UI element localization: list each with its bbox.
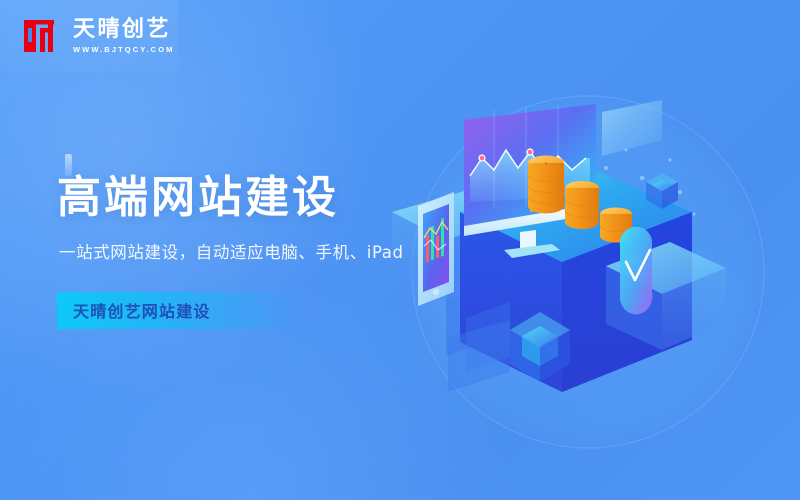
logo-block[interactable]: 天晴创艺 WWW.BJTQCY.COM xyxy=(0,0,178,72)
hero-copy: 高端网站建设 一站式网站建设，自动适应电脑、手机、iPad 天晴创艺网站建设 xyxy=(57,172,477,329)
hero-subtitle: 一站式网站建设，自动适应电脑、手机、iPad xyxy=(59,241,477,264)
hero-banner: ¥ xyxy=(0,0,800,500)
logo-company-name: 天晴创艺 xyxy=(73,18,174,41)
tianqing-logo-mark-icon xyxy=(22,16,62,56)
logo-text: 天晴创艺 WWW.BJTQCY.COM xyxy=(73,18,174,54)
security-shield-check xyxy=(620,227,653,315)
accent-tick-mark xyxy=(65,154,72,176)
logo-website-url: WWW.BJTQCY.COM xyxy=(73,45,174,54)
page-title: 高端网站建设 xyxy=(57,172,477,223)
cta-button[interactable]: 天晴创艺网站建设 xyxy=(57,292,297,329)
